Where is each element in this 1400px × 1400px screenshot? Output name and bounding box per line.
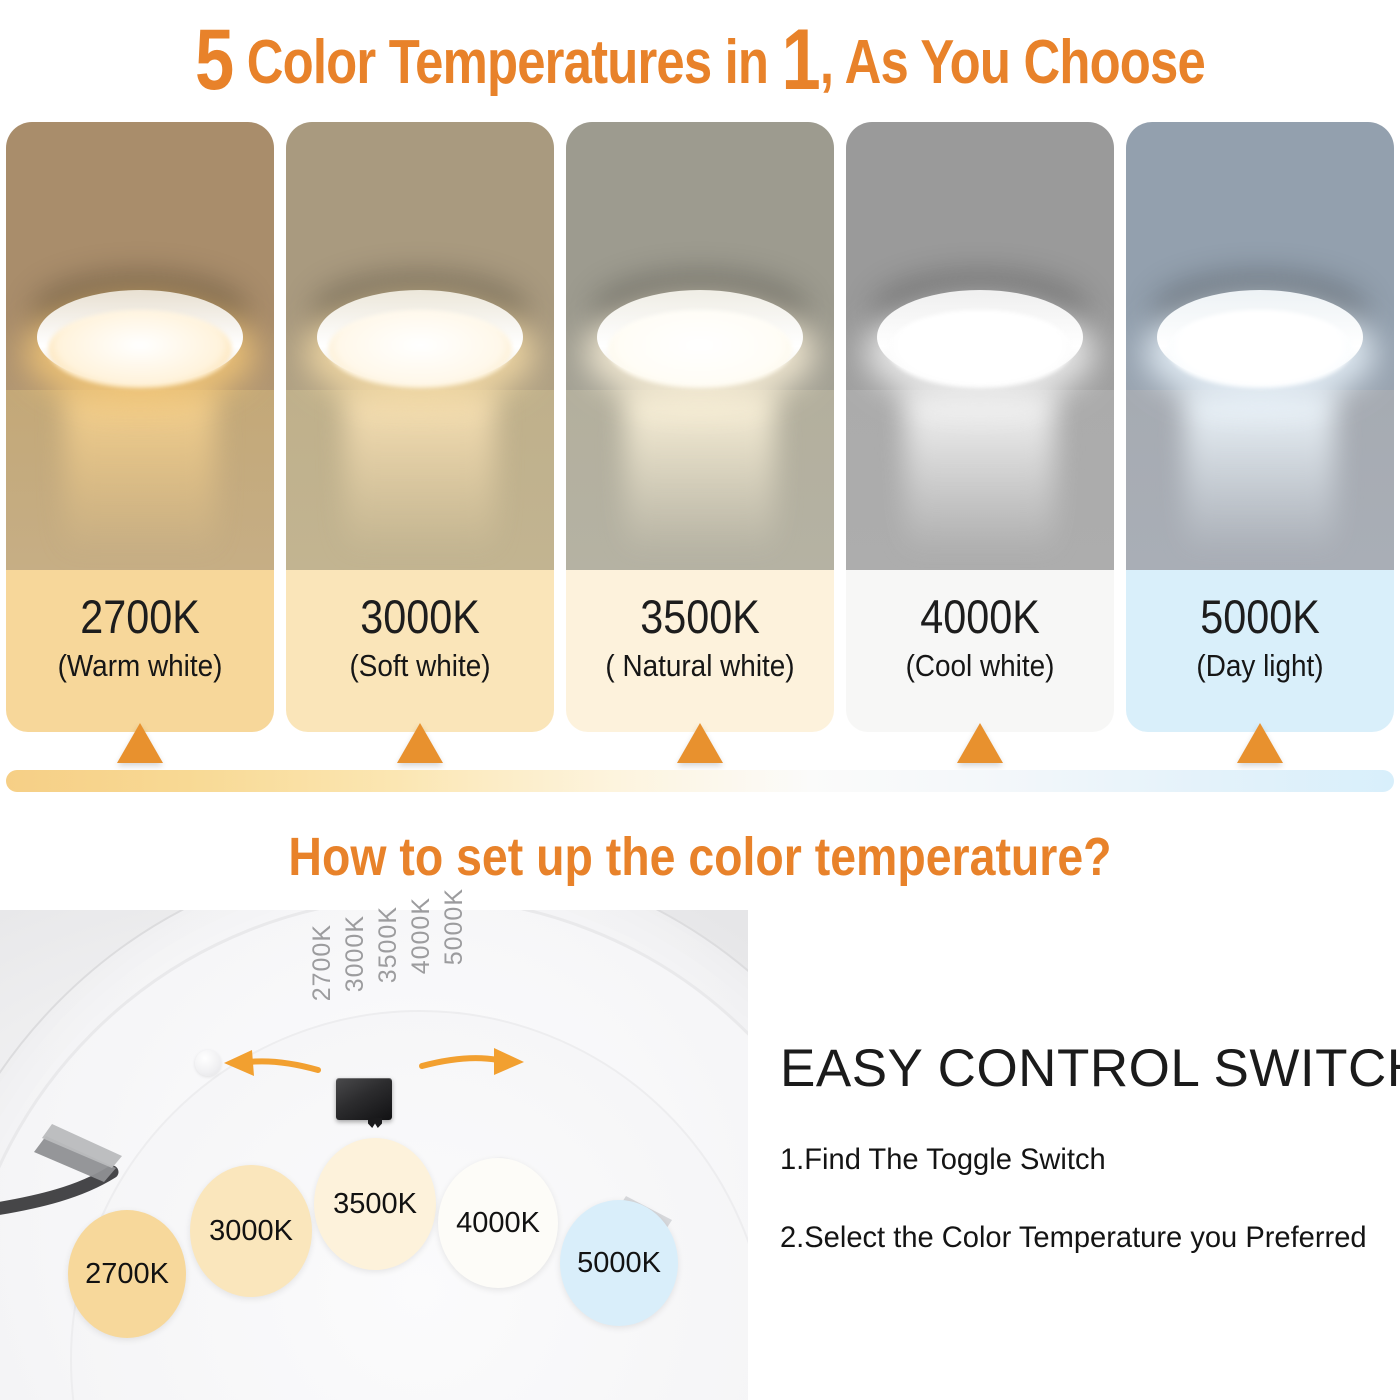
panel-label-card: 5000K(Day light) — [1126, 570, 1394, 732]
panel-kelvin-value: 2700K — [22, 592, 258, 642]
kelvin-bubble: 3500K — [314, 1138, 436, 1270]
panel-lamp-glow — [1168, 310, 1352, 388]
panel-marker-triangle — [957, 723, 1003, 763]
page-title: 5 Color Temperatures in 1, As You Choose — [126, 22, 1274, 99]
panel-kelvin-name: (Soft white) — [299, 649, 540, 683]
kelvin-bubble: 3000K — [190, 1165, 312, 1297]
panel-label-card: 3000K(Soft white) — [286, 570, 554, 732]
panel-light-cone — [905, 390, 1055, 570]
plate-kelvin-label: 5000K — [440, 888, 469, 965]
headline-number: 5 — [195, 12, 233, 108]
instruction-step-1: 1.Find The Toggle Switch — [780, 1143, 1381, 1177]
color-temperature-panel: 4000K(Cool white) — [846, 122, 1114, 732]
panel-label-card: 3500K( Natural white) — [566, 570, 834, 732]
panel-lamp-glow — [48, 310, 232, 388]
panel-light-cone — [1185, 390, 1335, 570]
panel-label-card: 4000K(Cool white) — [846, 570, 1114, 732]
plate-kelvin-label: 3000K — [341, 915, 370, 992]
color-temperature-panel: 2700K(Warm white) — [6, 122, 274, 732]
color-temperature-panels: 2700K(Warm white)3000K(Soft white)3500K(… — [6, 122, 1394, 732]
panel-lamp-glow — [328, 310, 512, 388]
instructions-panel: EASY CONTROL SWITCH 1.Find The Toggle Sw… — [748, 910, 1400, 1400]
panel-kelvin-value: 4000K — [862, 592, 1098, 642]
panel-scene — [286, 122, 554, 570]
instruction-step-2: 2.Select the Color Temperature you Prefe… — [780, 1221, 1381, 1255]
headline-one: 1 — [781, 12, 819, 108]
panel-lamp-glow — [608, 310, 792, 388]
panel-kelvin-name: (Day light) — [1139, 649, 1380, 683]
panel-lamp-glow — [888, 310, 1072, 388]
plate-kelvin-label: 4000K — [407, 897, 436, 974]
panel-marker-triangle — [677, 723, 723, 763]
kelvin-bubble: 2700K — [68, 1210, 186, 1338]
panel-light-cone — [625, 390, 775, 570]
panel-kelvin-value: 3000K — [302, 592, 538, 642]
panel-marker-triangle — [117, 723, 163, 763]
section-title-setup: How to set up the color temperature? — [98, 826, 1302, 888]
color-temperature-panel: 5000K(Day light) — [1126, 122, 1394, 732]
panel-kelvin-name: ( Natural white) — [579, 649, 820, 683]
panel-marker-triangle — [1237, 723, 1283, 763]
panel-light-cone — [345, 390, 495, 570]
panel-label-card: 2700K(Warm white) — [6, 570, 274, 732]
panel-kelvin-value: 3500K — [582, 592, 818, 642]
headline-middle: Color Temperatures in — [233, 28, 781, 97]
setup-section: 2700K3000K3500K4000K5000K 2700K3000K3500… — [0, 910, 1400, 1400]
color-temperature-panel: 3000K(Soft white) — [286, 122, 554, 732]
instructions-title: EASY CONTROL SWITCH — [780, 1038, 1400, 1099]
kelvin-bubble: 4000K — [438, 1158, 558, 1288]
panel-kelvin-value: 5000K — [1142, 592, 1378, 642]
panel-light-cone — [65, 390, 215, 570]
panel-scene — [846, 122, 1114, 570]
toggle-switch[interactable] — [336, 1078, 392, 1120]
panel-scene — [1126, 122, 1394, 570]
plate-kelvin-label: 2700K — [308, 924, 337, 1001]
plate-kelvin-labels: 2700K3000K3500K4000K5000K — [308, 924, 469, 1001]
color-temperature-gradient-bar — [6, 770, 1394, 792]
panel-scene — [6, 122, 274, 570]
headline-tail: , As You Choose — [820, 28, 1205, 97]
color-temperature-panel: 3500K( Natural white) — [566, 122, 834, 732]
panel-scene — [566, 122, 834, 570]
kelvin-bubble: 5000K — [560, 1200, 678, 1326]
panel-marker-triangle — [397, 723, 443, 763]
plate-kelvin-label: 3500K — [374, 906, 403, 983]
panel-kelvin-name: (Warm white) — [19, 649, 260, 683]
fixture-boss-left — [195, 1050, 221, 1076]
panel-kelvin-name: (Cool white) — [859, 649, 1100, 683]
